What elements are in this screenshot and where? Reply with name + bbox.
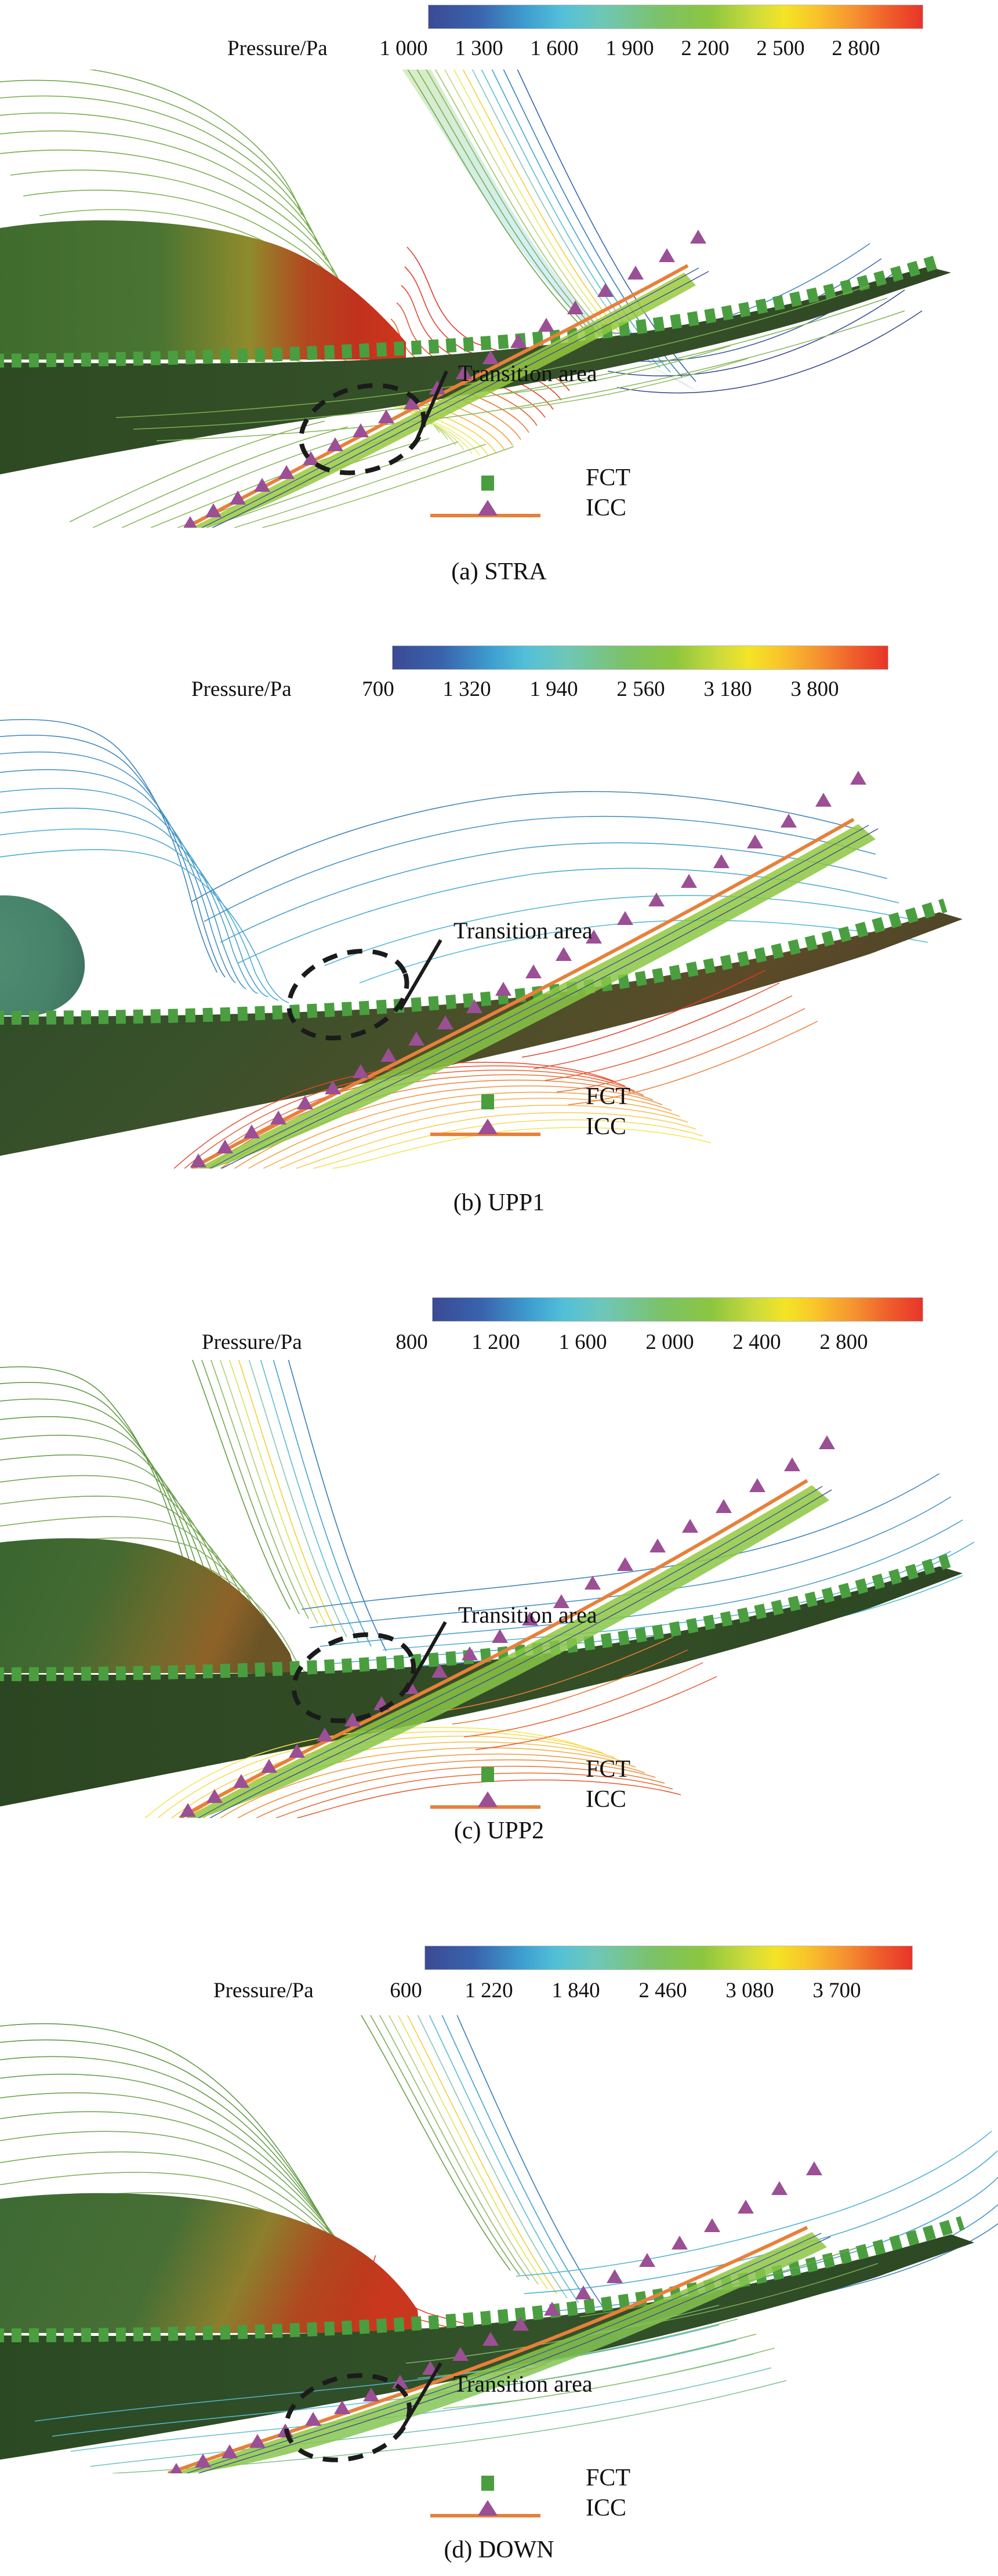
- colorbar-b-title: Pressure/Pa: [191, 677, 292, 702]
- icc-swatch-marker-d: [478, 2500, 498, 2516]
- panel-d-down: Pressure/Pa 600 1 220 1 840 2 460 3 080 …: [0, 1882, 998, 2576]
- icc-label-a: ICC: [586, 494, 626, 522]
- colorbar-d-title: Pressure/Pa: [213, 1978, 314, 2003]
- fct-swatch-a: [481, 476, 494, 491]
- icc-label-d: ICC: [586, 2494, 626, 2522]
- transition-area-label-c: Transition area: [458, 1601, 597, 1628]
- transition-area-label-b: Transition area: [453, 917, 593, 944]
- panel-c-upp2: Pressure/Pa 800 1 200 1 600 2 000 2 400 …: [0, 1256, 998, 1873]
- colorbar-c-tick-5: 2 800: [806, 1330, 881, 1355]
- contour-svg-d: [0, 2015, 998, 2473]
- colorbar-c-title: Pressure/Pa: [202, 1330, 302, 1355]
- colorbar-c-tick-4: 2 400: [719, 1330, 794, 1355]
- transition-area-label-d: Transition area: [453, 2370, 593, 2397]
- contour-svg-a: [0, 70, 998, 528]
- colorbar-b-tick-4: 3 180: [690, 677, 765, 702]
- colorbar-c: [432, 1297, 923, 1322]
- colorbar-a-tick-6: 2 800: [821, 36, 891, 61]
- colorbar-b-tick-3: 2 560: [603, 677, 678, 702]
- icc-label-b: ICC: [586, 1113, 626, 1141]
- colorbar-d-tick-3: 2 460: [625, 1978, 701, 2003]
- colorbar-d-tick-4: 3 080: [712, 1978, 787, 2003]
- blade-body-upper-d: [0, 2193, 420, 2333]
- colorbar-b: [392, 645, 888, 670]
- colorbar-a-tick-1: 1 300: [444, 36, 514, 61]
- contour-band-upper-right-d: [360, 2015, 607, 2312]
- transition-area-label-a: Transition area: [458, 360, 597, 387]
- fct-label-c: FCT: [586, 1755, 630, 1783]
- colorbar-b-tick-0: 700: [343, 677, 413, 702]
- colorbar-a-title: Pressure/Pa: [227, 36, 328, 61]
- colorbar-b-tick-2: 1 940: [516, 677, 591, 702]
- caption-b: (b) UPP1: [0, 1189, 998, 1217]
- icc-swatch-marker-b: [478, 1119, 498, 1134]
- caption-d: (d) DOWN: [0, 2536, 998, 2564]
- colorbar-a-tick-3: 1 900: [595, 36, 665, 61]
- contour-plot-c: [0, 1360, 998, 1818]
- caption-a: (a) STRA: [0, 558, 998, 586]
- colorbar-d-tick-0: 600: [371, 1978, 441, 2003]
- colorbar-d-tick-5: 3 700: [799, 1978, 874, 2003]
- colorbar-c-tick-0: 800: [377, 1330, 447, 1355]
- icc-swatch-marker-c: [478, 1791, 498, 1807]
- colorbar-c-tick-1: 1 200: [458, 1330, 534, 1355]
- nose-blob-b: [0, 895, 85, 1015]
- contour-plot-d: [0, 2015, 998, 2473]
- fct-label-b: FCT: [586, 1083, 630, 1111]
- fct-swatch-d: [481, 2476, 494, 2491]
- fct-label-d: FCT: [586, 2464, 630, 2492]
- blade-body-upper-a: [0, 220, 406, 360]
- fct-swatch-c: [481, 1767, 494, 1782]
- icc-label-c: ICC: [586, 1786, 626, 1813]
- colorbar-b-tick-5: 3 800: [777, 677, 852, 702]
- panel-b-upp1: Pressure/Pa 700 1 320 1 940 2 560 3 180 …: [0, 629, 998, 1247]
- colorbar-c-tick-2: 1 600: [545, 1330, 620, 1355]
- colorbar-a-tick-2: 1 600: [520, 36, 589, 61]
- fct-swatch-b: [481, 1094, 494, 1109]
- colorbar-a-tick-0: 1 000: [369, 36, 438, 61]
- blade-body-upper-c: [0, 1538, 296, 1673]
- caption-c: (c) UPP2: [0, 1817, 998, 1845]
- fct-label-a: FCT: [586, 464, 630, 492]
- contour-svg-c: [0, 1360, 998, 1818]
- panel-a-stra: Pressure/Pa 1 000 1 300 1 600 1 900 2 20…: [0, 0, 998, 615]
- colorbar-a-tick-5: 2 500: [746, 36, 815, 61]
- colorbar-b-tick-1: 1 320: [429, 677, 505, 702]
- colorbar-d-tick-1: 1 220: [451, 1978, 527, 2003]
- contour-plot-a: [0, 70, 998, 528]
- colorbar-a-tick-4: 2 200: [670, 36, 740, 61]
- icc-swatch-marker-a: [478, 500, 498, 516]
- colorbar-d-tick-2: 1 840: [538, 1978, 614, 2003]
- colorbar-d: [424, 1946, 913, 1970]
- colorbar-c-tick-3: 2 000: [632, 1330, 707, 1355]
- colorbar-a: [428, 5, 923, 29]
